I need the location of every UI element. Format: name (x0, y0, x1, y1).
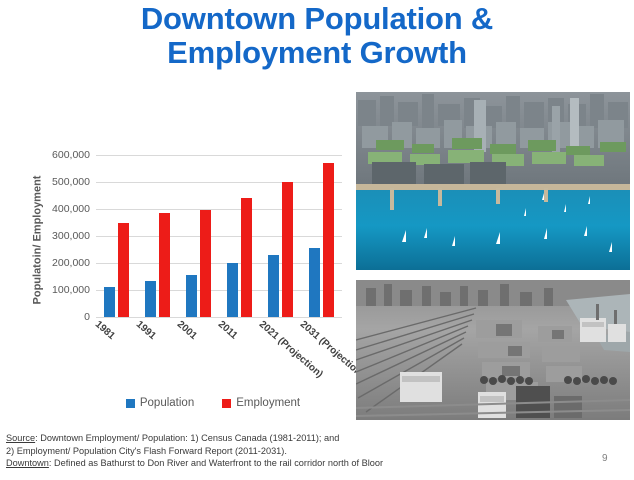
bar-employment-2011[interactable] (241, 198, 252, 317)
legend-label: Employment (236, 397, 300, 409)
source-line-2: 2) Employment/ Population City's Flash F… (6, 445, 546, 458)
bar-population-2011[interactable] (227, 263, 238, 317)
y-axis-tick-labels: 600,000500,000400,000300,000200,000100,0… (32, 138, 90, 338)
bar-employment-2031[interactable] (323, 163, 334, 317)
source-label: Source (6, 433, 35, 443)
bar-group (301, 155, 342, 317)
y-axis-tick-label: 600,000 (32, 149, 90, 161)
bar-employment-1991[interactable] (159, 213, 170, 317)
y-axis-tick-label: 400,000 (32, 203, 90, 215)
x-axis-tick-label: 1991 (134, 319, 158, 342)
slide-number: 9 (602, 453, 608, 464)
source-line-3-text: : Defined as Bathurst to Don River and W… (49, 458, 383, 468)
bar-population-2031[interactable] (309, 248, 320, 317)
bar-group (260, 155, 301, 317)
chart-legend: PopulationEmployment (68, 397, 358, 409)
gridline (96, 317, 342, 318)
bar-employment-1981[interactable] (118, 223, 129, 318)
legend-swatch-icon (126, 399, 135, 408)
historic-aerial-photo-graphic (356, 280, 630, 420)
legend-swatch-icon (222, 399, 231, 408)
y-axis-tick-label: 0 (32, 311, 90, 323)
page-title-line-2: Employment Growth (0, 36, 634, 70)
bar-population-2001[interactable] (186, 275, 197, 317)
bar-series-container (96, 155, 342, 317)
bar-population-1991[interactable] (145, 281, 156, 317)
legend-item-employment[interactable]: Employment (222, 397, 300, 409)
source-footnote: Source: Downtown Employment/ Population:… (6, 432, 546, 470)
page-title-line-1: Downtown Population & (0, 2, 634, 36)
bar-group (137, 155, 178, 317)
y-axis-tick-label: 300,000 (32, 230, 90, 242)
source-line-1-text: : Downtown Employment/ Population: 1) Ce… (35, 433, 339, 443)
waterfront-rendering-image (356, 92, 630, 270)
bar-population-2021[interactable] (268, 255, 279, 317)
y-axis-tick-label: 200,000 (32, 257, 90, 269)
x-axis-tick-label: 2011 (216, 319, 240, 342)
bar-group (96, 155, 137, 317)
bar-employment-2021[interactable] (282, 182, 293, 317)
x-axis-tick-labels: 19811991200120112021 (Projection)2031 (P… (96, 319, 342, 389)
source-line-1: Source: Downtown Employment/ Population:… (6, 432, 546, 445)
x-axis-tick-label: 2001 (175, 319, 199, 342)
plot-area (96, 155, 342, 317)
bar-group (219, 155, 260, 317)
bar-population-1981[interactable] (104, 287, 115, 317)
source-line-3: Downtown: Defined as Bathurst to Don Riv… (6, 457, 546, 470)
y-axis-tick-label: 100,000 (32, 284, 90, 296)
bar-group (178, 155, 219, 317)
legend-label: Population (140, 397, 194, 409)
legend-item-population[interactable]: Population (126, 397, 194, 409)
page-title: Downtown Population & Employment Growth (0, 2, 634, 70)
bar-employment-2001[interactable] (200, 210, 211, 317)
y-axis-tick-label: 500,000 (32, 176, 90, 188)
waterfront-rendering-graphic (356, 92, 630, 270)
bar-chart: Populatoin/ Employment 600,000500,000400… (8, 138, 348, 423)
historic-aerial-photo-image (356, 280, 630, 420)
downtown-label: Downtown (6, 458, 49, 468)
x-axis-tick-label: 1981 (93, 319, 117, 342)
